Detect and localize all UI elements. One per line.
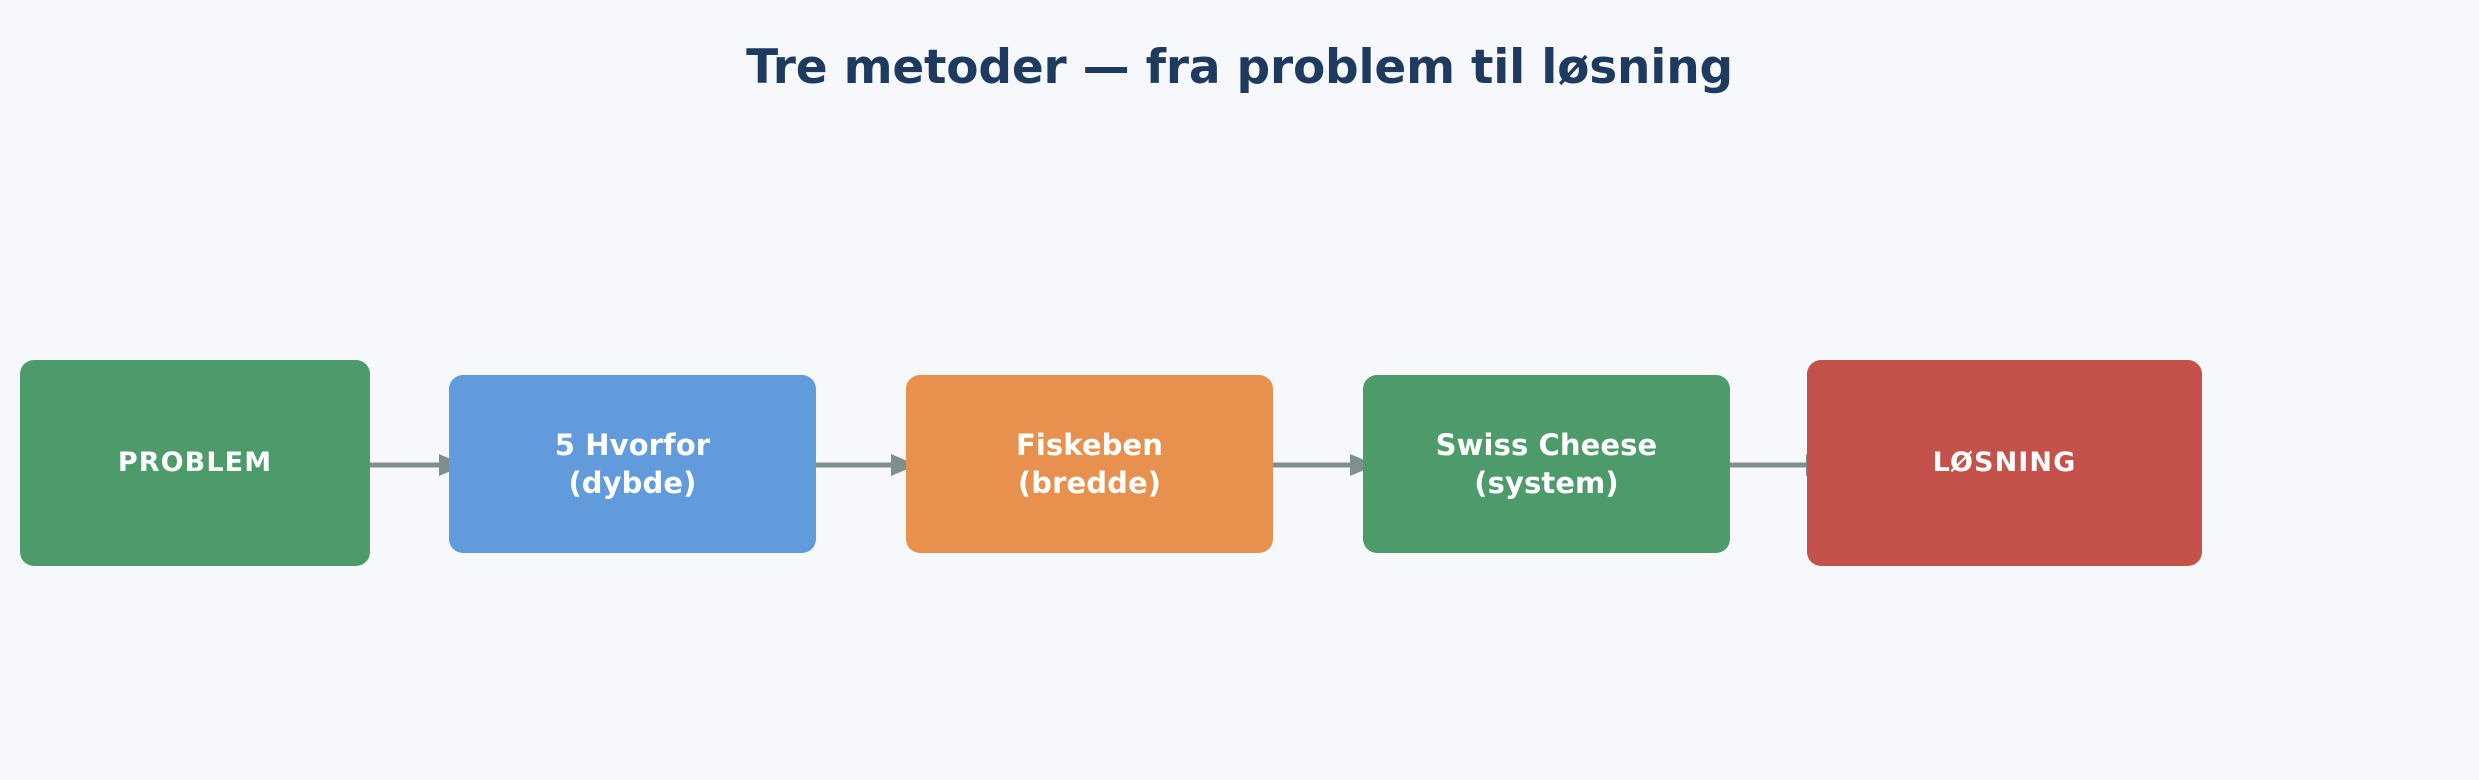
- flow-node-fishbone[interactable]: Fiskeben (bredde): [906, 375, 1273, 553]
- flow-node-label: PROBLEM: [118, 445, 272, 481]
- flow-node-label: Swiss Cheese (system): [1436, 426, 1658, 503]
- flow-node-solution[interactable]: LØSNING: [1807, 360, 2202, 566]
- flow-arrow-fishbone-to-swiss: [1258, 445, 1376, 485]
- arrow-shaft: [810, 463, 895, 468]
- flow-node-label: LØSNING: [1933, 445, 2077, 481]
- flow-arrow-five-whys-to-fishbone: [810, 445, 917, 485]
- flow-node-swiss-cheese[interactable]: Swiss Cheese (system): [1363, 375, 1730, 553]
- flow-node-five-whys[interactable]: 5 Hvorfor (dybde): [449, 375, 816, 553]
- flow-node-label: Fiskeben (bredde): [1016, 426, 1163, 503]
- flow-node-problem[interactable]: PROBLEM: [20, 360, 370, 566]
- flow-node-label: 5 Hvorfor (dybde): [555, 426, 710, 503]
- flowchart-canvas: PROBLEM5 Hvorfor (dybde)Fiskeben (bredde…: [0, 0, 2479, 780]
